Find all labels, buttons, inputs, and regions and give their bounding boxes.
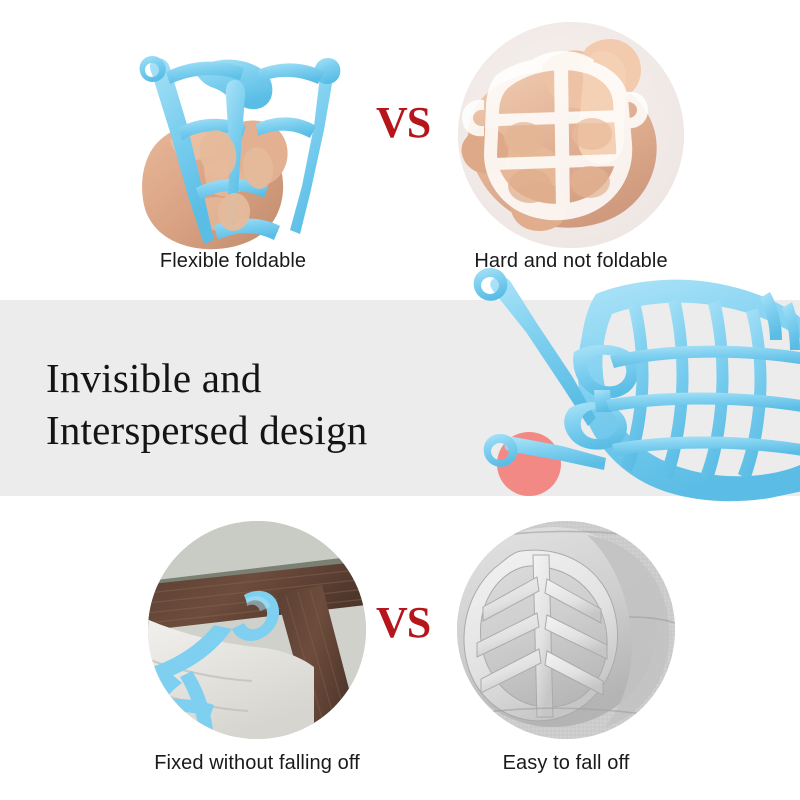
product-infographic: Flexible foldable VS: [0, 0, 800, 800]
caption-flexible-foldable: Flexible foldable: [108, 250, 358, 273]
vs-badge-top: VS: [376, 101, 430, 145]
photo-fixed-without-falling-off: [148, 521, 366, 739]
headline-line-1: Invisible and: [46, 352, 367, 404]
photo-hard-not-foldable: [458, 22, 684, 248]
headline: Invisible and Interspersed design: [46, 352, 367, 457]
photo-easy-to-fall-off: [457, 521, 675, 739]
caption-easy-to-fall-off: Easy to fall off: [441, 752, 691, 775]
photo-flexible-foldable: [108, 16, 358, 252]
caption-fixed-without-falling-off: Fixed without falling off: [132, 752, 382, 775]
hero-product-blue-bracket: [470, 240, 800, 510]
vs-badge-bottom: VS: [376, 601, 430, 645]
headline-line-2: Interspersed design: [46, 404, 367, 456]
